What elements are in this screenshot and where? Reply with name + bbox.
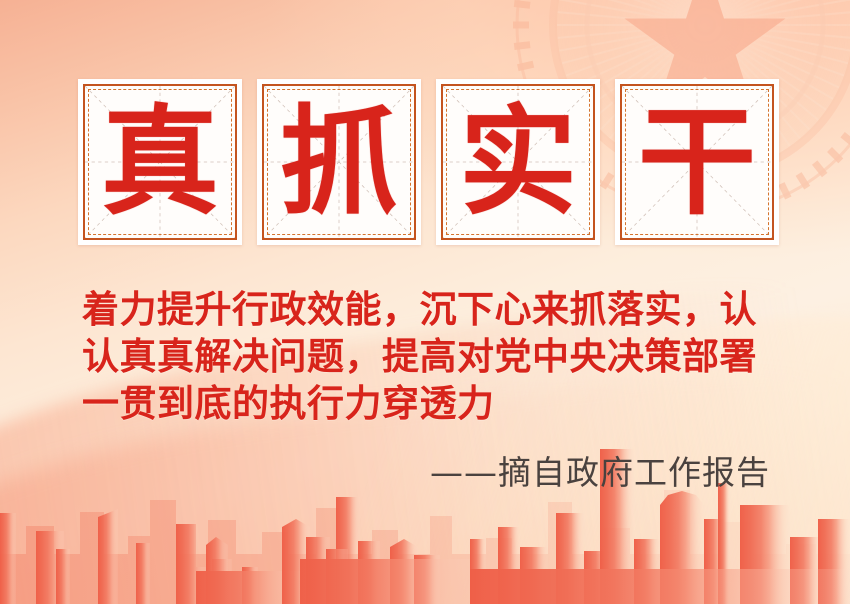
body-quote-text: 着力提升行政效能，沉下心来抓落实，认 认真真解决问题，提高对党中央决策部署 一贯… xyxy=(82,286,772,427)
calligraphy-cell-3: 实 xyxy=(436,79,600,245)
calligraphy-cell-4-inner: 干 xyxy=(620,84,774,240)
quote-attribution: ——摘自政府工作报告 xyxy=(430,452,770,494)
body-line-2: 认真真解决问题，提高对党中央决策部署 xyxy=(82,333,772,380)
calligraphy-cell-2-inner: 抓 xyxy=(262,84,416,240)
calligraphy-cell-4: 干 xyxy=(615,79,779,245)
calligraphy-cell-3-inner: 实 xyxy=(441,84,595,240)
calligraphy-grid-row: 真 抓 xyxy=(78,79,779,245)
calligraphy-char-1: 真 xyxy=(85,86,235,238)
poster-canvas: 真 抓 xyxy=(0,0,850,604)
calligraphy-char-2: 抓 xyxy=(264,86,414,238)
calligraphy-char-4: 干 xyxy=(622,86,772,238)
calligraphy-cell-2: 抓 xyxy=(257,79,421,245)
calligraphy-char-3: 实 xyxy=(443,86,593,238)
calligraphy-cell-1: 真 xyxy=(78,79,242,245)
body-line-1: 着力提升行政效能，沉下心来抓落实，认 xyxy=(82,286,772,333)
body-line-3: 一贯到底的执行力穿透力 xyxy=(82,380,772,427)
calligraphy-cell-1-inner: 真 xyxy=(83,84,237,240)
city-skyline-silhouette xyxy=(0,419,850,604)
